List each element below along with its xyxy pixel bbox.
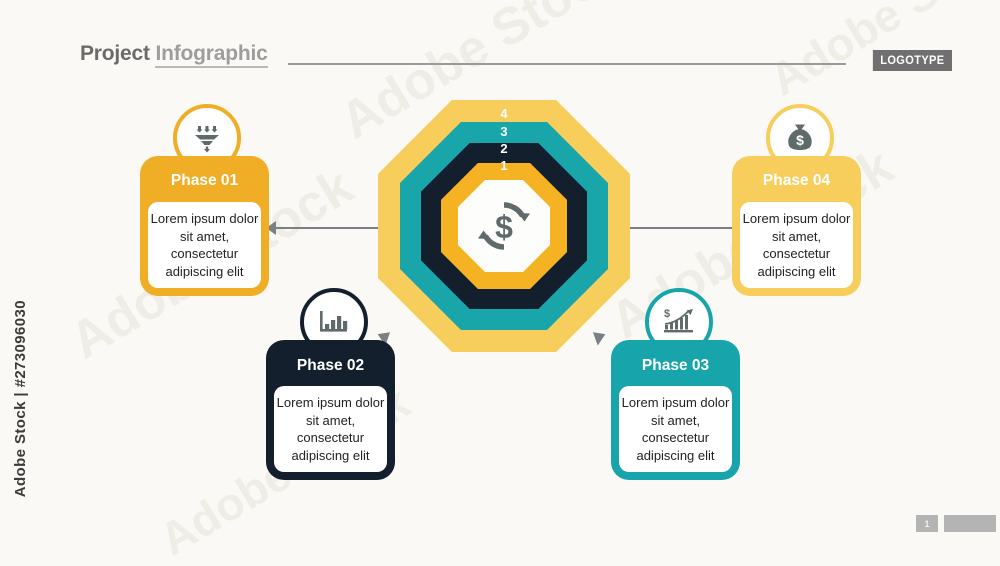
- phase-03-title: Phase 03: [611, 357, 740, 375]
- phase-01-body-text: Lorem ipsum dolor sit amet, consectetur …: [148, 210, 261, 280]
- header-divider: [288, 63, 846, 65]
- phase-03-body: Lorem ipsum dolor sit amet, consectetur …: [619, 386, 732, 472]
- connector-to-phase-04: [614, 227, 740, 229]
- infographic-canvas: Adobe Stock Adobe Stock Adobe Stock Adob…: [0, 0, 1000, 562]
- octagon-ring-2-number: 2: [421, 141, 587, 156]
- phase-01-body: Lorem ipsum dolor sit amet, consectetur …: [148, 202, 261, 288]
- page-progress-bar[interactable]: [944, 515, 996, 532]
- svg-text:$: $: [796, 132, 804, 148]
- phase-02-title: Phase 02: [266, 357, 395, 375]
- bar-chart-icon: [318, 308, 350, 336]
- connector-to-phase-03-arrowhead: [593, 329, 608, 346]
- svg-text:$: $: [495, 209, 513, 245]
- svg-text:$: $: [664, 308, 670, 320]
- phase-04-title: Phase 04: [732, 172, 861, 190]
- logotype-badge: LOGOTYPE: [873, 50, 952, 71]
- page-title-light: Infographic: [155, 42, 267, 68]
- phase-04-body-text: Lorem ipsum dolor sit amet, consectetur …: [740, 210, 853, 280]
- page-indicator[interactable]: 1: [916, 515, 938, 532]
- octagon-ring-4-number: 4: [378, 106, 630, 121]
- page-title-strong: Project: [80, 42, 150, 65]
- watermark-sidebar-text: Adobe Stock | #273096030: [12, 300, 29, 497]
- money-bag-icon: $: [783, 121, 817, 155]
- octagon-ring-3-number: 3: [400, 124, 608, 139]
- funnel-icon: [191, 122, 223, 154]
- octagon-ring-1-number: 1: [441, 158, 567, 173]
- phase-02-body: Lorem ipsum dolor sit amet, consectetur …: [274, 386, 387, 472]
- page-title: Project Infographic: [80, 42, 268, 66]
- phase-02-body-text: Lorem ipsum dolor sit amet, consectetur …: [274, 394, 387, 464]
- phase-01-title: Phase 01: [140, 172, 269, 190]
- phase-04-body: Lorem ipsum dolor sit amet, consectetur …: [740, 202, 853, 288]
- growth-chart-dollar-icon: $: [662, 307, 696, 337]
- phase-03-body-text: Lorem ipsum dolor sit amet, consectetur …: [619, 394, 732, 464]
- dollar-cycle-icon: $: [474, 196, 534, 256]
